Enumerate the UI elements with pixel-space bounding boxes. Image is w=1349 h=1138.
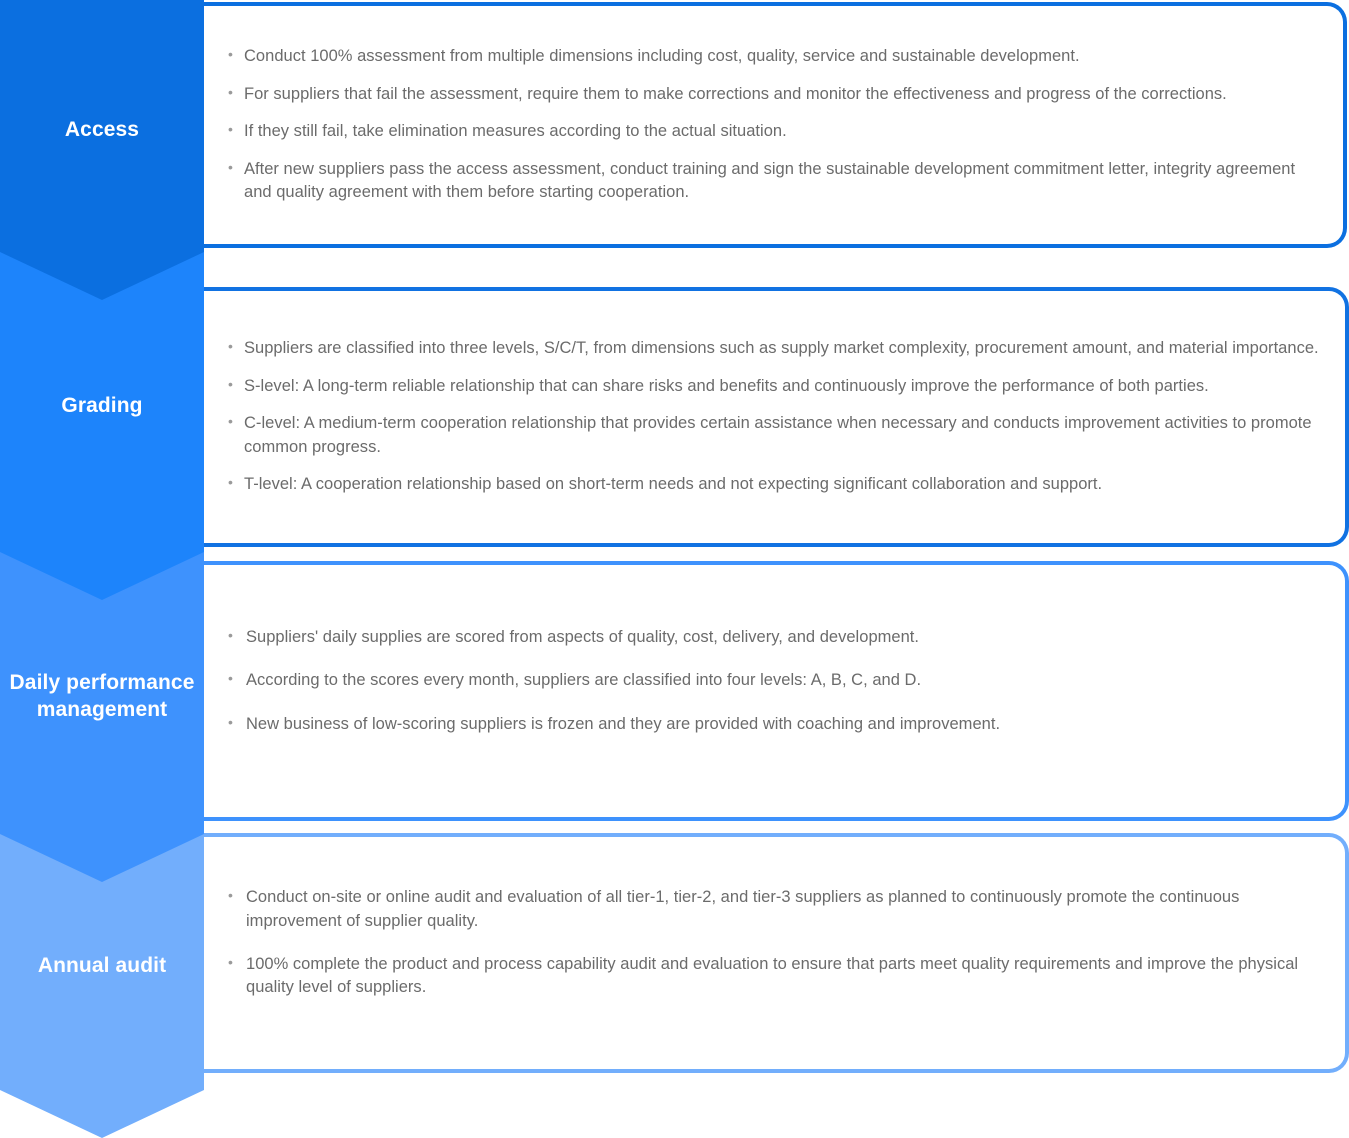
list-item: If they still fail, take elimination mea…: [226, 120, 1317, 143]
list-item: C-level: A medium-term cooperation relat…: [226, 412, 1319, 459]
stage-chevron-rail: Annual audit Daily performance managemen…: [0, 0, 204, 1138]
stage-chevron-grading[interactable]: Grading: [0, 252, 204, 600]
stage-chevron-access[interactable]: Access: [0, 0, 204, 300]
stage-card-daily-performance-management: Suppliers' daily supplies are scored fro…: [204, 561, 1349, 821]
stage-label-grading: Grading: [8, 393, 196, 420]
bullet-list-daily-performance-management: Suppliers' daily supplies are scored fro…: [226, 626, 1319, 756]
stage-label-daily-performance-management: Daily performance management: [8, 670, 196, 724]
list-item: 100% complete the product and process ca…: [226, 953, 1319, 1000]
list-item: T-level: A cooperation relationship base…: [226, 473, 1319, 496]
stage-card-access: Conduct 100% assessment from multiple di…: [204, 2, 1347, 248]
bullet-list-grading: Suppliers are classified into three leve…: [226, 337, 1319, 496]
stage-chevron-daily-performance-management[interactable]: Daily performance management: [0, 552, 204, 882]
stage-card-annual-audit: Conduct on-site or online audit and eval…: [204, 833, 1349, 1073]
list-item: S-level: A long-term reliable relationsh…: [226, 375, 1319, 398]
list-item: Suppliers' daily supplies are scored fro…: [226, 626, 1319, 649]
list-item: According to the scores every month, sup…: [226, 669, 1319, 692]
list-item: New business of low-scoring suppliers is…: [226, 713, 1319, 736]
supplier-process-diagram: Annual audit Daily performance managemen…: [0, 0, 1349, 1138]
list-item: Conduct 100% assessment from multiple di…: [226, 45, 1317, 68]
list-item: After new suppliers pass the access asse…: [226, 158, 1317, 205]
stage-label-annual-audit: Annual audit: [8, 953, 196, 980]
stage-card-grading: Suppliers are classified into three leve…: [204, 287, 1349, 547]
list-item: Conduct on-site or online audit and eval…: [226, 886, 1319, 933]
bullet-list-access: Conduct 100% assessment from multiple di…: [226, 45, 1317, 204]
list-item: Suppliers are classified into three leve…: [226, 337, 1319, 360]
list-item: For suppliers that fail the assessment, …: [226, 83, 1317, 106]
bullet-list-annual-audit: Conduct on-site or online audit and eval…: [226, 886, 1319, 1020]
stage-label-access: Access: [8, 117, 196, 144]
